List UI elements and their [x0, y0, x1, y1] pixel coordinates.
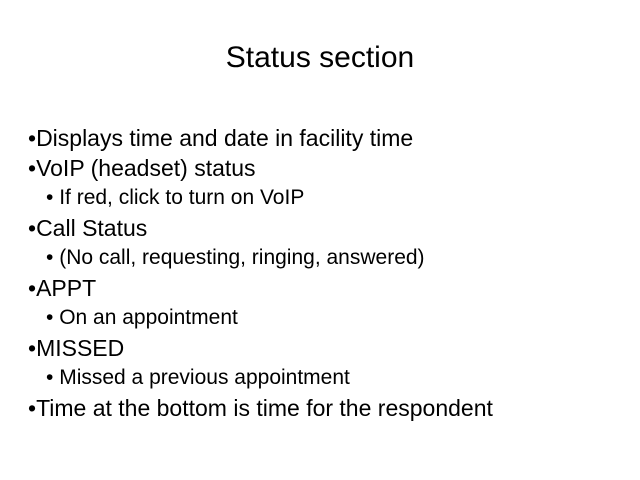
list-item: •If red, click to turn on VoIP [28, 183, 628, 213]
list-item: •On an appointment [28, 303, 628, 333]
list-item-label: (No call, requesting, ringing, answered) [59, 246, 424, 269]
list-item: •APPT [28, 273, 628, 303]
list-item-label: On an appointment [59, 306, 238, 329]
bullet-glyph-icon: • [28, 335, 36, 361]
page-title: Status section [0, 40, 640, 76]
bullet-glyph-icon: • [46, 366, 59, 389]
list-item-label: Missed a previous appointment [59, 366, 350, 389]
list-item-label: APPT [36, 275, 96, 301]
list-item: •Call Status [28, 213, 628, 243]
list-item: •VoIP (headset) status [28, 153, 628, 183]
list-item-label: MISSED [36, 335, 124, 361]
list-item: •Time at the bottom is time for the resp… [28, 393, 628, 423]
bullet-list: •Displays time and date in facility time… [28, 123, 628, 423]
list-item: •Displays time and date in facility time [28, 123, 628, 153]
list-item-label: Call Status [36, 215, 147, 241]
bullet-glyph-icon: • [28, 215, 36, 241]
bullet-glyph-icon: • [28, 275, 36, 301]
list-item-label: If red, click to turn on VoIP [59, 186, 304, 209]
bullet-glyph-icon: • [46, 306, 59, 329]
list-item-label: Displays time and date in facility time [36, 125, 413, 151]
list-item: •Missed a previous appointment [28, 363, 628, 393]
list-item: •MISSED [28, 333, 628, 363]
bullet-glyph-icon: • [46, 246, 59, 269]
slide-canvas: Status section •Displays time and date i… [0, 0, 640, 480]
bullet-glyph-icon: • [46, 186, 59, 209]
bullet-glyph-icon: • [28, 125, 36, 151]
list-item-label: Time at the bottom is time for the respo… [36, 395, 493, 421]
bullet-glyph-icon: • [28, 395, 36, 421]
list-item-label: VoIP (headset) status [36, 155, 256, 181]
bullet-glyph-icon: • [28, 155, 36, 181]
list-item: •(No call, requesting, ringing, answered… [28, 243, 628, 273]
